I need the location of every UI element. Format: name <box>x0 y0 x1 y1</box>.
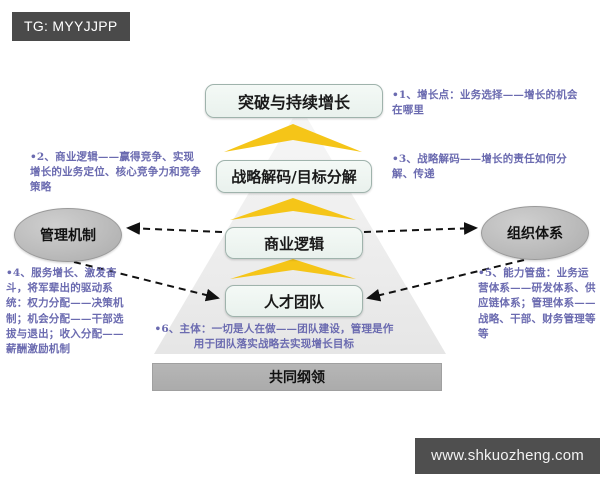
telegram-watermark: TG: MYYJJPP <box>12 12 130 41</box>
annotation-6: •6、主体：一切是人在做——团队建设，管理是作用于团队落实战略去实现增长目标 <box>152 322 396 352</box>
site-watermark: www.shkuozheng.com <box>415 438 600 474</box>
diagram-canvas: 突破与持续增长 战略解码/目标分解 商业逻辑 人才团队 管理机制 组织体系 共同… <box>0 0 600 480</box>
annotation-4: •4、服务增长、激发奋斗，将军辈出的驱动系统：权力分配——决策机制；机会分配——… <box>6 266 130 357</box>
annotation-1: •1、增长点：业务选择——增长的机会在哪里 <box>392 88 582 118</box>
annotation-3: •3、战略解码——增长的责任如何分解、传递 <box>392 152 577 182</box>
level-box-decoding[interactable]: 战略解码/目标分解 <box>216 160 372 193</box>
level-box-growth[interactable]: 突破与持续增长 <box>205 84 383 118</box>
level-box-talent[interactable]: 人才团队 <box>225 285 363 317</box>
pillar-oval-organization-system[interactable]: 组织体系 <box>481 206 589 260</box>
foundation-bar[interactable]: 共同纲领 <box>152 363 442 391</box>
annotation-5: •5、能力管盘：业务运营体系——研发体系、供应链体系；管理体系——战略、干部、财… <box>478 266 596 342</box>
pillar-oval-management-mechanism[interactable]: 管理机制 <box>14 208 122 262</box>
level-box-logic[interactable]: 商业逻辑 <box>225 227 363 259</box>
annotation-2: •2、商业逻辑——赢得竞争、实现增长的业务定位、核心竞争力和竞争策略 <box>30 150 202 196</box>
